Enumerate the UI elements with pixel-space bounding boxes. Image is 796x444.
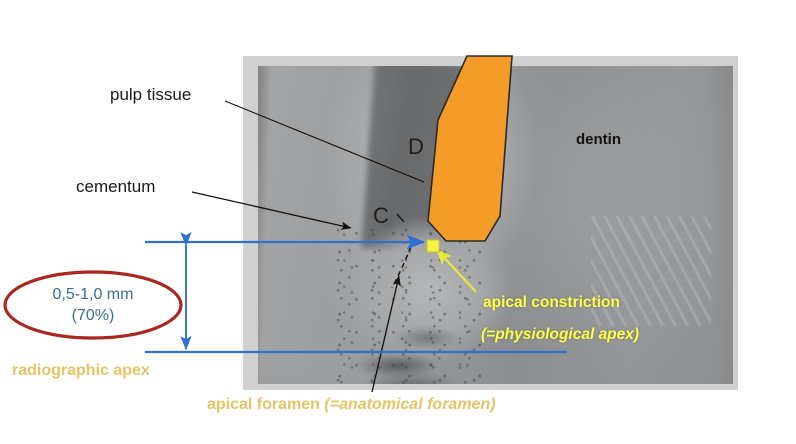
cementum-leader-arrow — [192, 192, 351, 228]
anatomical-foramen-text: (=anatomical foramen) — [324, 396, 495, 413]
figure-canvas: pulp tissue cementum dentin D C apical c… — [0, 0, 796, 444]
marker-label-c: C — [373, 203, 389, 229]
label-dentin: dentin — [576, 131, 621, 148]
apical-constriction-marker — [427, 240, 439, 252]
measurement-value-line1: 0,5-1,0 mm — [13, 284, 173, 305]
canal-dashed-path — [392, 238, 414, 288]
label-cementum: cementum — [76, 177, 155, 197]
label-apical-foramen: apical foramen (=anatomical foramen) — [207, 396, 496, 414]
label-radiographic-apex: radiographic apex — [12, 362, 150, 380]
marker-c-tick — [397, 214, 404, 222]
pulp-tissue-leader-line — [225, 101, 424, 182]
label-physiological-apex: (=physiological apex) — [481, 326, 639, 344]
label-pulp-tissue: pulp tissue — [110, 85, 191, 105]
root-canal-orange-highlight — [428, 56, 512, 241]
apical-constriction-leader-arrow — [437, 250, 476, 292]
marker-label-d: D — [408, 134, 424, 160]
measurement-value: 0,5-1,0 mm (70%) — [13, 284, 173, 326]
label-apical-constriction: apical constriction — [483, 294, 620, 312]
apical-foramen-leader-arrow — [372, 276, 399, 392]
measurement-value-line2: (70%) — [13, 305, 173, 326]
apical-foramen-text: apical foramen — [207, 396, 320, 413]
